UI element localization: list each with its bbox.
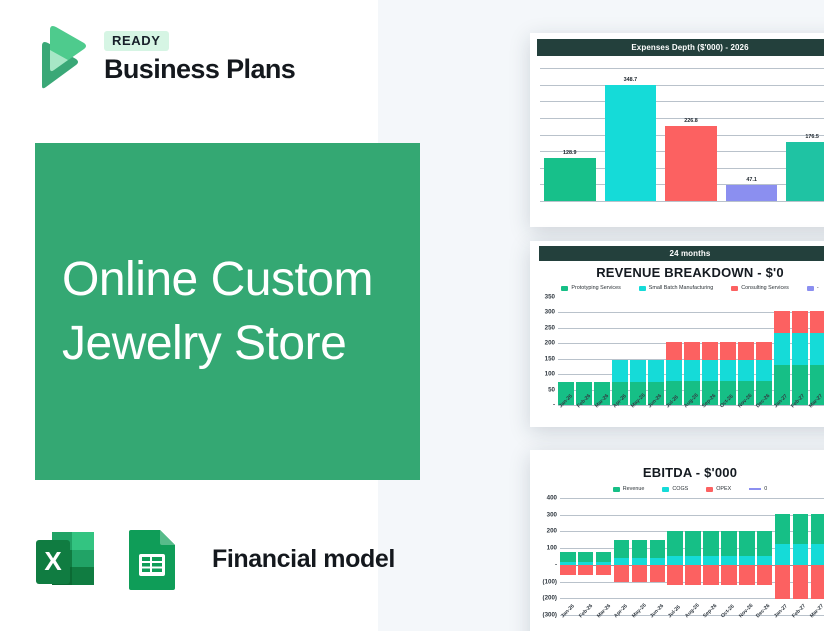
- y-axis-label: 200: [545, 340, 555, 347]
- bar-segment: [756, 342, 772, 360]
- y-axis-label: 200: [547, 528, 557, 535]
- legend-label: Consulting Services: [741, 285, 789, 291]
- footer-row: X Financial model: [30, 524, 395, 594]
- y-axis-label: 300: [545, 309, 555, 316]
- bar-segment-revenue: [596, 552, 612, 562]
- bar-segment-cogs: [721, 556, 737, 565]
- legend-item: Prototyping Services: [561, 285, 620, 291]
- bar-segment-revenue: [614, 540, 630, 558]
- y-axis-label: 50: [548, 386, 555, 393]
- bar-segment: [720, 342, 736, 360]
- stacked-bar: [703, 498, 719, 615]
- stacked-bar: [721, 498, 737, 615]
- positive-stack: [632, 540, 648, 564]
- stacked-bar: [756, 297, 772, 405]
- bar-segment: [738, 360, 754, 381]
- stacked-bar: [596, 498, 612, 615]
- bar-segment-opex: [578, 565, 594, 575]
- positive-stack: [739, 531, 755, 565]
- legend-swatch: [807, 286, 814, 291]
- bar-fill: [544, 158, 596, 201]
- bar-segment-opex: [596, 565, 612, 575]
- bar-segment-revenue: [775, 514, 791, 545]
- stacked-bar: [630, 297, 646, 405]
- bar-segment: [792, 311, 808, 334]
- stacked-bar: [576, 297, 592, 405]
- stacked-bar: [594, 297, 610, 405]
- bar-segment-cogs: [685, 556, 701, 565]
- bar-segment-cogs: [811, 544, 824, 564]
- bar-segment-revenue: [793, 514, 809, 545]
- chart-ebitda-bars: [560, 498, 824, 615]
- bar-segment-opex: [721, 565, 737, 585]
- chart-expenses-bars: 128.9348.7226.847.1176.5: [540, 68, 824, 201]
- y-axis-label: 300: [547, 511, 557, 518]
- positive-stack: [793, 514, 809, 565]
- y-axis-label: (100): [543, 578, 557, 585]
- legend-swatch: [561, 286, 568, 291]
- bar-segment-opex: [667, 565, 683, 585]
- positive-stack: [685, 531, 701, 565]
- legend-label: Revenue: [623, 486, 645, 492]
- y-axis-label: 100: [545, 371, 555, 378]
- positive-stack: [667, 531, 683, 565]
- positive-stack: [775, 514, 791, 565]
- bar-segment: [738, 342, 754, 360]
- legend-item: -: [807, 285, 819, 291]
- bar-segment: [666, 342, 682, 360]
- stacked-bar: [650, 498, 666, 615]
- bar-segment: [720, 360, 736, 381]
- legend-label: OPEX: [716, 486, 731, 492]
- legend-item: 0: [749, 486, 767, 492]
- bar-segment-opex: [739, 565, 755, 585]
- legend-item: Consulting Services: [731, 285, 789, 291]
- bar-fill: [726, 185, 778, 201]
- bar-segment-opex: [685, 565, 701, 585]
- positive-stack: [578, 552, 594, 565]
- bar-segment-cogs: [757, 556, 773, 565]
- legend-swatch: [749, 488, 761, 490]
- stacked-bar: [810, 297, 824, 405]
- bar-segment-opex: [632, 565, 648, 582]
- stacked-bar: [774, 297, 790, 405]
- chart-card-revenue-breakdown: 24 months REVENUE BREAKDOWN - $'0 Protot…: [530, 241, 824, 427]
- stacked-bar: [632, 498, 648, 615]
- hero-panel: Online Custom Jewelry Store: [35, 143, 420, 480]
- bar-segment-opex: [811, 565, 824, 599]
- legend-swatch: [613, 487, 620, 492]
- bar-segment-revenue: [757, 531, 773, 557]
- legend-label: COGS: [672, 486, 688, 492]
- positive-stack: [757, 531, 773, 565]
- bar-segment-cogs: [739, 556, 755, 565]
- bar-segment-revenue: [650, 540, 666, 558]
- google-sheets-icon: [117, 524, 187, 594]
- positive-stack: [596, 552, 612, 565]
- bar-segment: [702, 342, 718, 360]
- y-axis-label: (200): [543, 595, 557, 602]
- stacked-bar: [793, 498, 809, 615]
- chart-ebitda-legend: RevenueCOGSOPEX0: [530, 486, 824, 492]
- stacked-bar: [648, 297, 664, 405]
- bar-segment-opex: [560, 565, 576, 575]
- positive-stack: [650, 540, 666, 564]
- bar-segment: [774, 333, 790, 365]
- legend-swatch: [662, 487, 669, 492]
- bar-segment-cogs: [775, 544, 791, 564]
- bar-segment: [702, 360, 718, 381]
- stacked-bar: [667, 498, 683, 615]
- bar-segment-revenue: [703, 531, 719, 557]
- ready-badge: READY: [104, 31, 169, 51]
- chart-revenue-bars: [558, 297, 824, 405]
- bar-segment: [810, 311, 824, 334]
- chart-revenue-xaxis: Jan-26Feb-26Mar-26Apr-26May-26Jun-26Jul-…: [558, 405, 824, 411]
- legend-item: COGS: [662, 486, 688, 492]
- bar-segment-revenue: [632, 540, 648, 558]
- legend-label: Prototyping Services: [571, 285, 620, 291]
- legend-label: Small Batch Manufacturing: [649, 285, 713, 291]
- stacked-bar: [612, 297, 628, 405]
- y-axis-label: 400: [547, 495, 557, 502]
- stacked-bar: [684, 297, 700, 405]
- legend-item: Small Batch Manufacturing: [639, 285, 713, 291]
- legend-item: Revenue: [613, 486, 645, 492]
- bar-segment-opex: [757, 565, 773, 585]
- bar-value-label: 128.9: [544, 150, 596, 156]
- bar-value-label: 176.5: [786, 134, 824, 140]
- positive-stack: [614, 540, 630, 564]
- stacked-bar: [666, 297, 682, 405]
- legend-swatch: [731, 286, 738, 291]
- brand-wordmark: READY Business Plans: [104, 31, 295, 83]
- chart-revenue-band: 24 months: [539, 246, 824, 261]
- bar-segment-revenue: [560, 552, 576, 562]
- stacked-bar: [558, 297, 574, 405]
- footer-label: Financial model: [212, 545, 395, 574]
- bar-segment: [756, 360, 772, 381]
- bar-value-label: 226.8: [665, 118, 717, 124]
- y-axis-label: -: [553, 402, 555, 409]
- chart-revenue-plot: 35030025020015010050- Jan-26Feb-26Mar-26…: [558, 297, 824, 405]
- bar-segment: [684, 342, 700, 360]
- chart-expenses-title: Expenses Depth ($'000) - 2026: [537, 39, 824, 56]
- legend-swatch: [639, 286, 646, 291]
- microsoft-excel-icon: X: [30, 524, 100, 594]
- stacked-bar: [775, 498, 791, 615]
- chart-revenue-legend: Prototyping ServicesSmall Batch Manufact…: [530, 285, 824, 291]
- bar-segment: [792, 333, 808, 365]
- bar-segment: [774, 311, 790, 334]
- legend-label: -: [817, 285, 819, 291]
- legend-label: 0: [764, 486, 767, 492]
- stacked-bar: [720, 297, 736, 405]
- bar-segment-cogs: [793, 544, 809, 564]
- chart-card-ebitda: EBITDA - $'000 RevenueCOGSOPEX0 40030020…: [530, 450, 824, 631]
- chart-revenue-title: REVENUE BREAKDOWN - $'0: [530, 265, 824, 280]
- stacked-bar: [614, 498, 630, 615]
- positive-stack: [703, 531, 719, 565]
- svg-text:X: X: [44, 546, 62, 576]
- bar-segment-cogs: [667, 556, 683, 565]
- bar-segment-revenue: [578, 552, 594, 562]
- gridline: [540, 201, 824, 202]
- bar-fill: [665, 126, 717, 201]
- stacked-bar: [792, 297, 808, 405]
- y-axis-label: 100: [547, 545, 557, 552]
- bar-value-label: 348.7: [605, 77, 657, 83]
- chart-card-expenses: Expenses Depth ($'000) - 2026 128.9348.7…: [530, 33, 824, 227]
- bar-segment-opex: [775, 565, 791, 599]
- bar-segment: [612, 360, 628, 382]
- y-axis-label: -: [555, 561, 557, 568]
- chart-ebitda-title: EBITDA - $'000: [530, 465, 824, 480]
- bar-segment-opex: [793, 565, 809, 599]
- bar-fill: [786, 142, 824, 201]
- chart-expenses-plot: 128.9348.7226.847.1176.5: [540, 68, 824, 201]
- stacked-bar: [685, 498, 701, 615]
- y-axis-label: 150: [545, 355, 555, 362]
- positive-stack: [721, 531, 737, 565]
- legend-item: OPEX: [706, 486, 731, 492]
- bar-segment-revenue: [685, 531, 701, 557]
- y-axis-label: 250: [545, 324, 555, 331]
- bar-segment-cogs: [703, 556, 719, 565]
- stacked-bar: [738, 297, 754, 405]
- bar-segment-revenue: [667, 531, 683, 557]
- positive-stack: [811, 514, 824, 565]
- bar-segment: [630, 360, 646, 382]
- positive-stack: [560, 552, 576, 565]
- bar-segment-revenue: [811, 514, 824, 545]
- brand-name: Business Plans: [104, 55, 295, 83]
- bar-segment-opex: [703, 565, 719, 585]
- bar-segment-opex: [650, 565, 666, 582]
- chart-ebitda-xaxis: Jan-26Feb-26Mar-26Apr-26May-26Jun-26Jul-…: [560, 615, 824, 621]
- bar-segment: [684, 360, 700, 381]
- bar-segment: [666, 360, 682, 381]
- bar-segment: [648, 360, 664, 382]
- stacked-bar: [739, 498, 755, 615]
- stacked-bar: [560, 498, 576, 615]
- legend-swatch: [706, 487, 713, 492]
- stacked-bar: [811, 498, 824, 615]
- bar-value-label: 47.1: [726, 177, 778, 183]
- bar-segment-revenue: [721, 531, 737, 557]
- y-axis-label: 350: [545, 294, 555, 301]
- slide-canvas: READY Business Plans Online Custom Jewel…: [0, 0, 824, 631]
- page-title: Online Custom Jewelry Store: [62, 248, 410, 376]
- bar-segment: [810, 333, 824, 365]
- stacked-bar: [757, 498, 773, 615]
- chart-ebitda-plot: 400300200100-(100)(200)(300) Jan-26Feb-2…: [560, 498, 824, 615]
- brand-logo: READY Business Plans: [28, 24, 295, 90]
- stacked-bar: [578, 498, 594, 615]
- bar-segment-opex: [614, 565, 630, 582]
- stacked-bar: [702, 297, 718, 405]
- play-triangle-logo-icon: [28, 24, 90, 90]
- bar-segment-revenue: [739, 531, 755, 557]
- y-axis-label: (300): [543, 612, 557, 619]
- bar-fill: [605, 85, 657, 201]
